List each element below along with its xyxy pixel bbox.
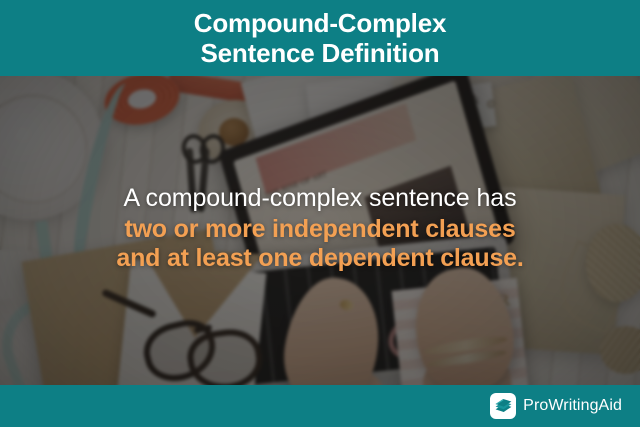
- definition-line-3: and at least one dependent clause.: [40, 244, 600, 273]
- definition-line-1: A compound-complex sentence has: [40, 182, 600, 215]
- page-title: Compound-Complex Sentence Definition: [194, 8, 446, 68]
- stacked-book-icon: [490, 393, 516, 419]
- brand-lockup[interactable]: ProWritingAid: [490, 393, 622, 419]
- page-title-line-2: Sentence Definition: [194, 38, 446, 68]
- infographic-canvas: Thank You THE RISE OF ART JUST FOR YOU: [0, 0, 640, 427]
- definition-line-2: two or more independent clauses: [40, 215, 600, 244]
- page-title-line-1: Compound-Complex: [194, 8, 446, 38]
- definition-text-block: A compound-complex sentence has two or m…: [0, 182, 640, 273]
- header-bar: Compound-Complex Sentence Definition: [0, 0, 640, 76]
- brand-name: ProWritingAid: [523, 397, 622, 415]
- footer-bar: ProWritingAid: [0, 385, 640, 427]
